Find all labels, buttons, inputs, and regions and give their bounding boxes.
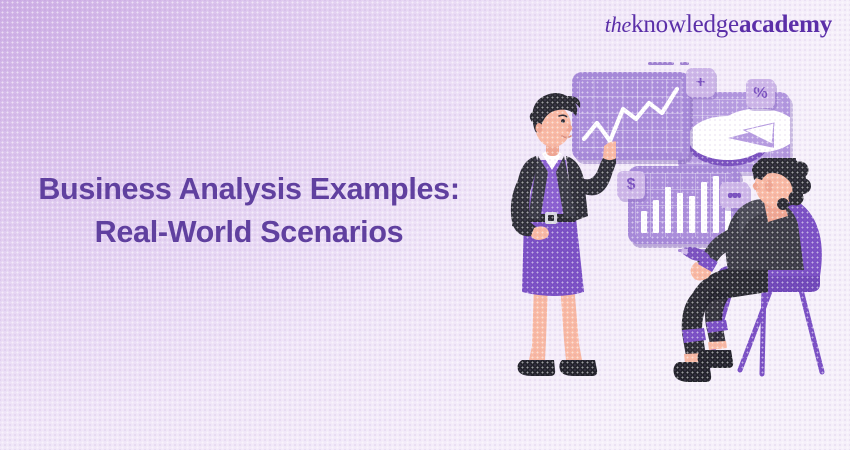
decorative-dash (648, 62, 674, 65)
percent-glyph: % (753, 86, 767, 102)
percent-icon: % (746, 79, 775, 108)
bar-chart-bar (641, 211, 647, 233)
title-line-1: Business Analysis Examples: (0, 168, 498, 211)
plus-icon: + (686, 68, 715, 97)
banner-canvas: + % $ (0, 0, 850, 450)
title-line-2: Real-World Scenarios (0, 211, 498, 254)
decorative-dash (680, 62, 689, 65)
plus-glyph: + (696, 75, 705, 91)
seated-listener-figure (672, 158, 848, 398)
bar-chart-bar (653, 200, 659, 233)
bar-chart-bar (665, 187, 671, 233)
logo-word-academy: academy (739, 11, 832, 38)
brand-logo[interactable]: theknowledgeacademy (605, 12, 832, 37)
logo-word-the: the (605, 12, 631, 37)
dollar-icon: $ (617, 171, 645, 199)
presenter-figure (496, 88, 616, 388)
page-title: Business Analysis Examples: Real-World S… (0, 168, 498, 255)
dollar-glyph: $ (627, 177, 636, 193)
logo-word-knowledge: knowledge (631, 11, 739, 38)
